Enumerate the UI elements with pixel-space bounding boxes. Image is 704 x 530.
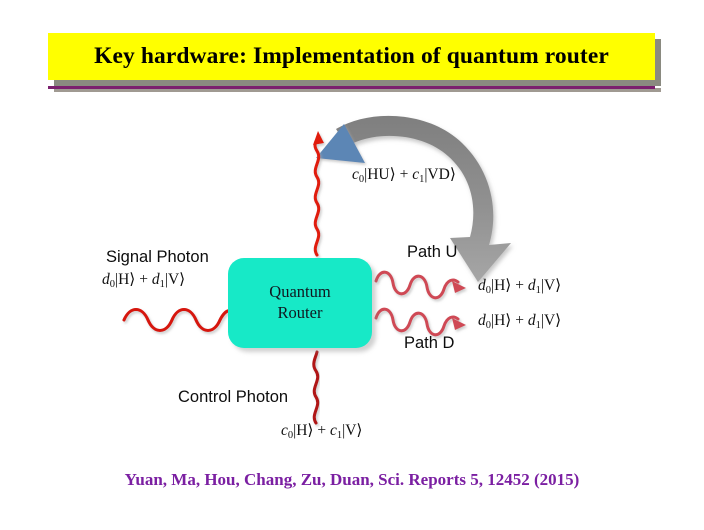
path-u-ket-1: |V⟩ bbox=[541, 277, 561, 294]
title-banner: Key hardware: Implementation of quantum … bbox=[48, 33, 655, 80]
blue-triangle-arrowhead bbox=[316, 124, 365, 163]
path-u-label: Path U bbox=[407, 243, 457, 262]
path-d-plus: + bbox=[511, 312, 528, 329]
path-d-ket-1: |V⟩ bbox=[541, 312, 561, 329]
wave-path-u-output bbox=[376, 272, 466, 298]
signal-input-formula: d0|H⟩ + d1|V⟩ bbox=[102, 270, 185, 290]
control-photon-label: Control Photon bbox=[178, 388, 288, 407]
quantum-router-box: Quantum Router bbox=[228, 258, 372, 348]
signal-input-coef-1: d bbox=[152, 271, 160, 288]
router-label-line1: Quantum bbox=[269, 282, 330, 303]
top-output-plus: + bbox=[396, 166, 413, 183]
router-label-line2: Router bbox=[278, 303, 323, 324]
top-output-ket-0: |HU⟩ bbox=[364, 166, 396, 183]
title-rule bbox=[48, 86, 655, 89]
path-u-coef-0: d bbox=[478, 277, 486, 294]
wave-path-d-output bbox=[376, 309, 466, 335]
signal-input-coef-0: d bbox=[102, 271, 110, 288]
control-input-ket-0: |H⟩ bbox=[293, 422, 313, 439]
path-u-output-formula: d0|H⟩ + d1|V⟩ bbox=[478, 276, 561, 296]
signal-input-ket-0: |H⟩ bbox=[115, 271, 135, 288]
control-input-coef-0: c bbox=[281, 422, 288, 439]
citation-text: Yuan, Ma, Hou, Chang, Zu, Duan, Sci. Rep… bbox=[0, 470, 704, 490]
top-output-ket-1: |VD⟩ bbox=[424, 166, 456, 183]
path-d-ket-0: |H⟩ bbox=[491, 312, 511, 329]
path-u-plus: + bbox=[511, 277, 528, 294]
wave-signal-input bbox=[124, 310, 231, 331]
control-input-formula: c0|H⟩ + c1|V⟩ bbox=[281, 421, 362, 441]
top-output-formula: c0|HU⟩ + c1|VD⟩ bbox=[352, 165, 456, 185]
path-u-coef-1: d bbox=[528, 277, 536, 294]
page-title: Key hardware: Implementation of quantum … bbox=[94, 43, 609, 70]
wave-signal-up bbox=[313, 131, 324, 255]
signal-photon-label: Signal Photon bbox=[106, 248, 209, 267]
control-input-ket-1: |V⟩ bbox=[342, 422, 362, 439]
control-input-coef-1: c bbox=[330, 422, 337, 439]
path-d-coef-0: d bbox=[478, 312, 486, 329]
slide-canvas: Key hardware: Implementation of quantum … bbox=[0, 0, 704, 530]
signal-input-ket-1: |V⟩ bbox=[165, 271, 185, 288]
path-d-label: Path D bbox=[404, 334, 454, 353]
top-output-coef-0: c bbox=[352, 166, 359, 183]
control-input-plus: + bbox=[313, 422, 330, 439]
signal-input-plus: + bbox=[135, 271, 152, 288]
path-d-output-formula: d0|H⟩ + d1|V⟩ bbox=[478, 311, 561, 331]
wave-control-input bbox=[314, 352, 318, 423]
path-u-ket-0: |H⟩ bbox=[491, 277, 511, 294]
path-d-coef-1: d bbox=[528, 312, 536, 329]
